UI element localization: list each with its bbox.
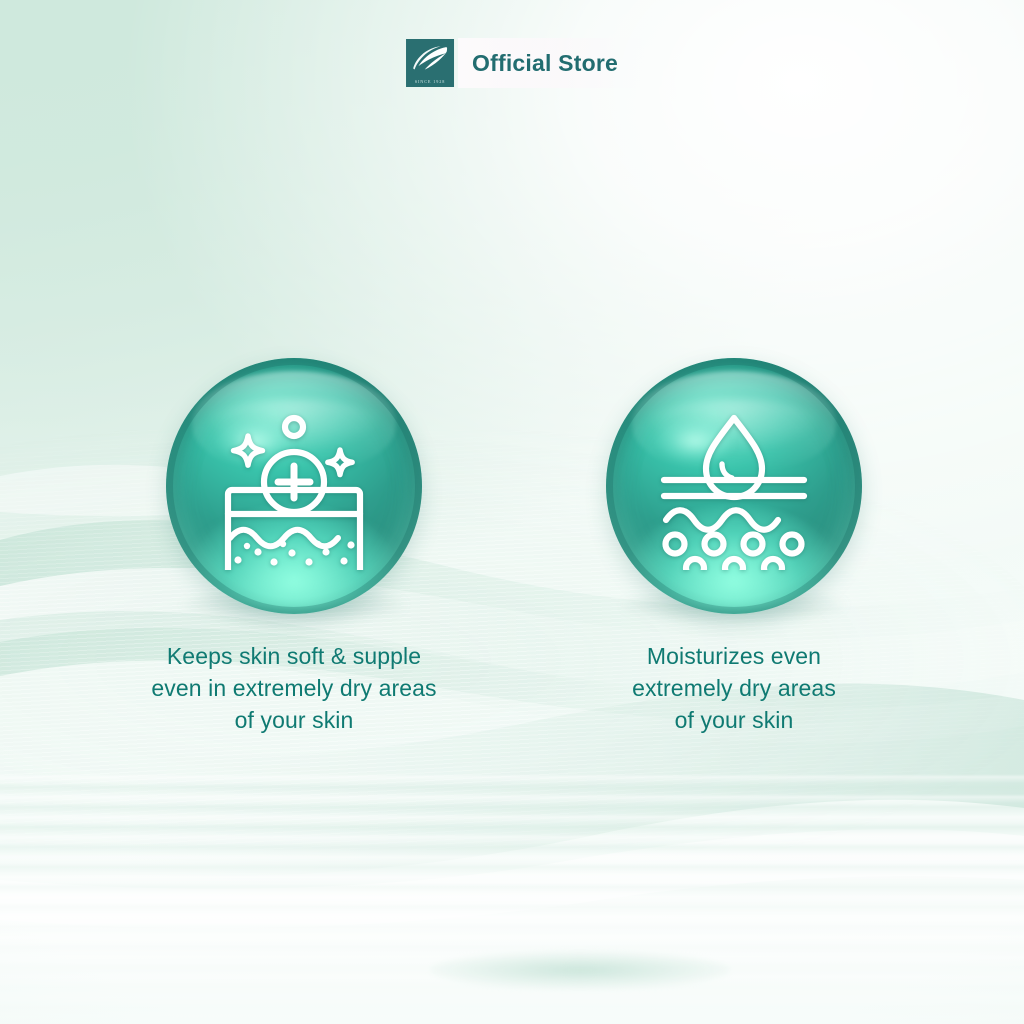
feature-orb [606, 358, 862, 614]
feature-orb [166, 358, 422, 614]
feature-item: Keeps skin soft & supple even in extreme… [124, 358, 464, 736]
feature-list: Keeps skin soft & supple even in extreme… [0, 0, 1024, 1024]
feature-caption: Keeps skin soft & supple even in extreme… [124, 640, 464, 736]
feature-item: Moisturizes even extremely dry areas of … [564, 358, 904, 736]
water-droplet-skin-hydration-icon [606, 358, 862, 614]
skin-layers-plus-sparkle-icon [166, 358, 422, 614]
feature-caption: Moisturizes even extremely dry areas of … [564, 640, 904, 736]
